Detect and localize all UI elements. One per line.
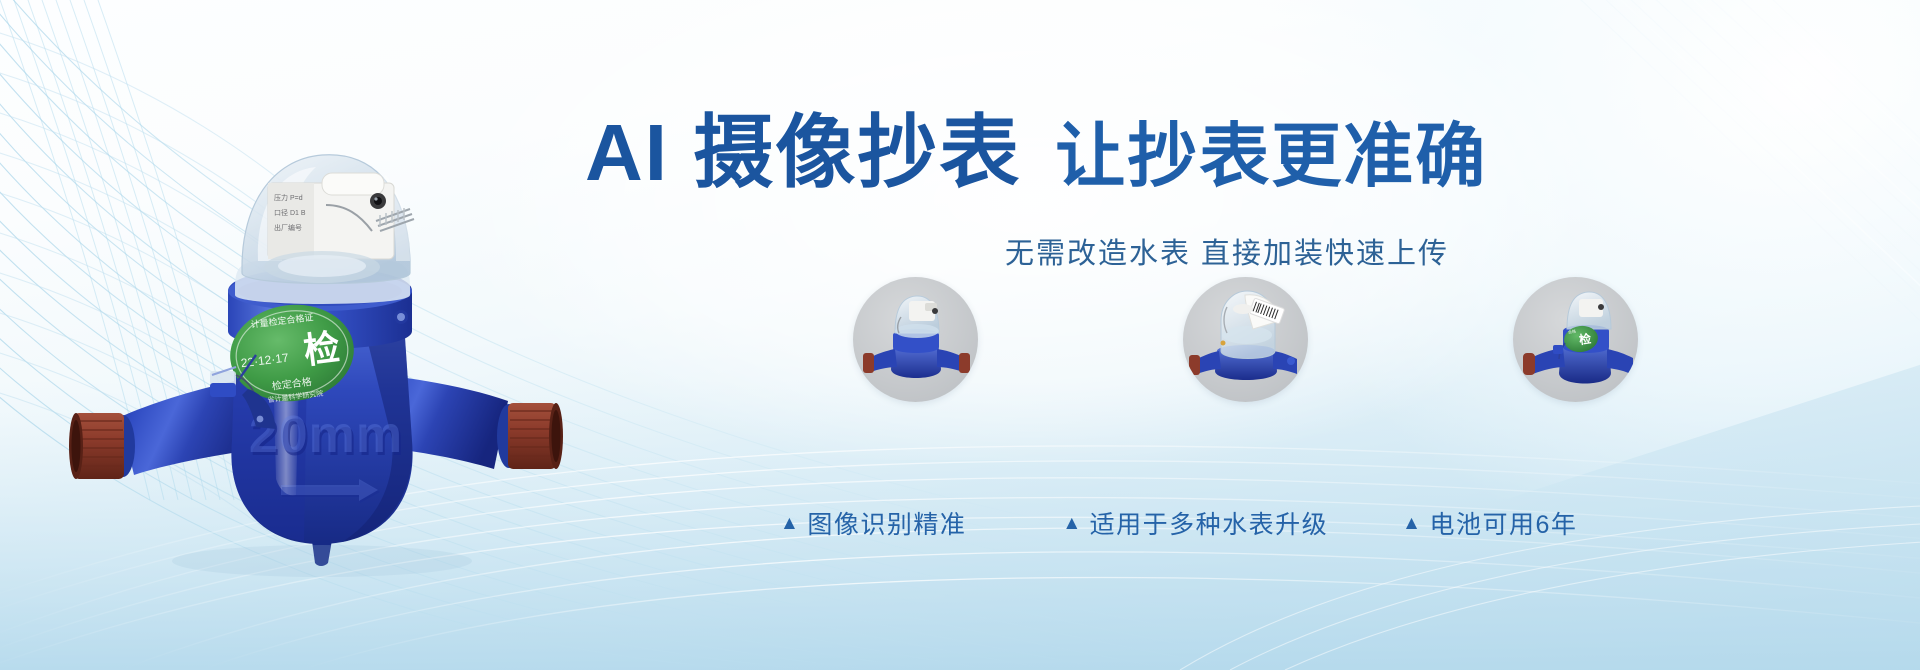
feature-item-3[interactable]: 检 合格 — [1450, 277, 1700, 402]
feature-caption-label-3: 电池可用6年 — [1429, 505, 1577, 541]
module-label-line-1: 压力 P=d — [274, 193, 303, 202]
headline-sub: 让抄表更准确 — [1055, 100, 1487, 201]
headline: AI 摄像抄表 让抄表更准确 — [585, 88, 1885, 204]
module-label-line-3: 出厂编号 — [274, 223, 302, 232]
feature-item-1[interactable] — [790, 277, 1040, 402]
copy-block: AI 摄像抄表 让抄表更准确 无需改造水表 直接加装快速上传 — [585, 88, 1885, 272]
water-meter-illustration: N8F N8F 20mm 20mm — [60, 55, 580, 585]
sticker-main-char: 检 — [301, 326, 342, 371]
meter-left-thread — [69, 413, 124, 479]
feature-captions: ▲ 图像识别精准 ▲ 适用于多种水表升级 ▲ 电池可用6年 — [770, 505, 1890, 541]
feature-caption-label-1: 图像识别精准 — [807, 505, 966, 541]
feature-caption-2: ▲ 适用于多种水表升级 — [1062, 505, 1328, 541]
banner-root: N8F N8F 20mm 20mm — [0, 0, 1920, 670]
headline-main: AI 摄像抄表 — [585, 88, 1021, 204]
feature-caption-1: ▲ 图像识别精准 — [780, 505, 966, 541]
camera-module: 压力 P=d 口径 D1 B 出厂编号 — [268, 173, 414, 259]
subheadline: 无需改造水表 直接加装快速上传 — [1005, 230, 1885, 272]
triangle-bullet-icon: ▲ — [1402, 514, 1422, 533]
feature-caption-label-2: 适用于多种水表升级 — [1090, 505, 1329, 541]
svg-text:合格: 合格 — [1567, 328, 1576, 335]
thumb-white-module-meter[interactable] — [1183, 277, 1308, 402]
product-image-main: N8F N8F 20mm 20mm — [60, 55, 580, 585]
triangle-bullet-icon: ▲ — [1062, 514, 1082, 533]
meter-right-thread — [508, 403, 563, 469]
feature-item-2[interactable] — [1120, 277, 1370, 402]
feature-caption-3: ▲ 电池可用6年 — [1402, 505, 1577, 541]
triangle-bullet-icon: ▲ — [780, 514, 800, 533]
thumb-meter-green-sticker[interactable]: 检 合格 — [1513, 277, 1638, 402]
svg-text:检: 检 — [1578, 331, 1592, 348]
module-label-line-2: 口径 D1 B — [274, 208, 306, 217]
thumb-blue-meter-clear-dome[interactable] — [853, 277, 978, 402]
